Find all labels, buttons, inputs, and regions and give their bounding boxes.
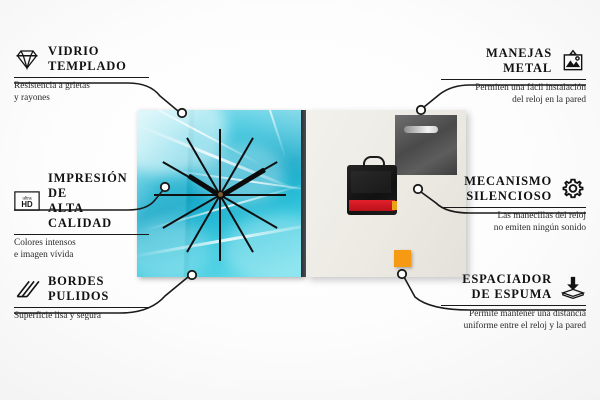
hanger-slot [404, 126, 438, 133]
feature-title: IMPRESIÓN DE ALTA CALIDAD [48, 171, 149, 231]
feature-title: BORDES PULIDOS [48, 274, 109, 304]
feature-mecanismo-silencioso: MECANISMO SILENCIOSO Las manecillas del … [441, 174, 586, 235]
foam-spacer [394, 250, 411, 267]
feature-divider [14, 77, 149, 78]
feature-espaciador-espuma: ESPACIADOR DE ESPUMA Permite mantener un… [441, 272, 586, 333]
feature-title: ESPACIADOR DE ESPUMA [462, 272, 552, 302]
polished-edges-icon [14, 276, 40, 302]
gear-icon [560, 176, 586, 202]
clock-center-pin [218, 192, 223, 197]
feature-subtitle: Colores intensos e imagen vívida [14, 238, 149, 261]
foam-spacer-icon [560, 274, 586, 300]
feature-subtitle: Resistencia a grietas y rayones [14, 81, 149, 104]
picture-hanger-icon [560, 48, 586, 74]
feature-title: MECANISMO SILENCIOSO [464, 174, 552, 204]
diamond-icon [14, 46, 40, 72]
svg-text:HD: HD [21, 200, 33, 209]
clock-mechanism-box [347, 165, 397, 215]
metal-hanger-plate [395, 115, 457, 175]
glass-clock-face [137, 110, 303, 277]
feature-title: MANEJAS METAL [486, 46, 552, 76]
feature-divider [14, 307, 149, 308]
feature-impresion-alta-calidad: ultra HD IMPRESIÓN DE ALTA CALIDAD Color… [14, 171, 149, 262]
feature-divider [14, 234, 149, 235]
feature-vidrio-templado: VIDRIO TEMPLADO Resistencia a grietas y … [14, 44, 149, 105]
ultra-hd-icon: ultra HD [14, 188, 40, 214]
feature-subtitle: Las manecillas del reloj no emiten ningú… [441, 211, 586, 234]
feature-subtitle: Permiten una fácil instalación del reloj… [441, 83, 586, 106]
feature-manejas-metal: MANEJAS METAL Permiten una fácil instala… [441, 46, 586, 107]
feature-subtitle: Permite mantener una distancia uniforme … [441, 309, 586, 332]
mechanism-hanger-loop [363, 156, 385, 169]
feature-subtitle: Superficie lisa y segura [14, 311, 149, 323]
product-infographic: VIDRIO TEMPLADO Resistencia a grietas y … [0, 0, 600, 400]
battery [349, 200, 395, 211]
clock-second-hand [219, 195, 220, 253]
feature-bordes-pulidos: BORDES PULIDOS Superficie lisa y segura [14, 274, 149, 323]
mechanism-shading [351, 171, 391, 193]
feature-title: VIDRIO TEMPLADO [48, 44, 127, 74]
feature-divider [441, 207, 586, 208]
feature-divider [441, 79, 586, 80]
feature-divider [441, 305, 586, 306]
